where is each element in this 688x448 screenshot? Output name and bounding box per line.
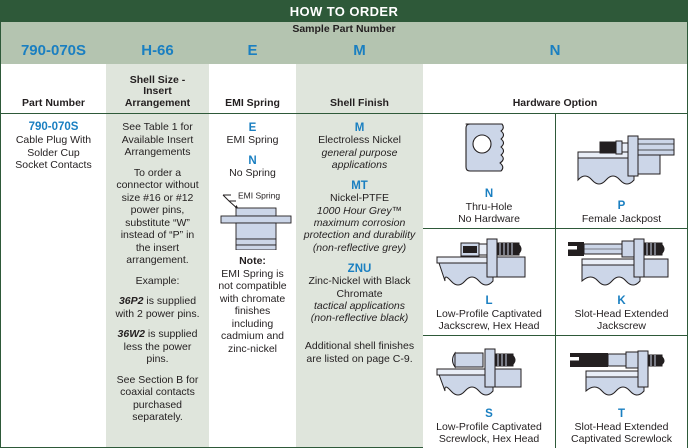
emi-option-n-label: No Spring xyxy=(213,167,292,179)
finish-mt-code: MT xyxy=(301,180,418,192)
header-emi-spring: EMI Spring xyxy=(209,64,296,113)
shell-size-paragraph-4: See Section B for coaxial contacts purch… xyxy=(113,374,202,424)
hardware-option-k: K Slot-Head Extended Jackscrew xyxy=(555,228,687,335)
shell-finish-footer: Additional shell finishes are listed on … xyxy=(301,340,418,365)
sample-value-shell-size: H-66 xyxy=(106,42,209,59)
cell-part-number: 790-070S Cable Plug With Solder Cup Sock… xyxy=(1,114,106,447)
hardware-l-label-line2: Jackscrew, Hex Head xyxy=(439,320,540,332)
hardware-option-l: L Low-Profile Captivated Jackscrew, Hex … xyxy=(423,228,555,335)
emi-note-title: Note: xyxy=(213,255,292,268)
hardware-l-code: L xyxy=(485,295,492,308)
cell-shell-finish: M Electroless Nickel general purpose app… xyxy=(296,114,423,447)
finish-m-code: M xyxy=(301,122,418,134)
hardware-n-code: N xyxy=(485,188,493,201)
hardware-n-label-line2: No Hardware xyxy=(458,213,520,225)
emi-note-body: EMI Spring is not compatible with chroma… xyxy=(213,268,292,356)
header-hardware-option: Hardware Option xyxy=(423,64,687,113)
hardware-l-label-line1: Low-Profile Captivated xyxy=(436,308,542,320)
low-profile-screwlock-drawing xyxy=(423,336,555,408)
hardware-option-s: S Low-Profile Captivated Screwlock, Hex … xyxy=(423,335,555,448)
hardware-p-code: P xyxy=(618,200,626,213)
header-shell-size-line3: Arrangement xyxy=(125,98,190,110)
finish-option-znu: ZNU Zinc-Nickel with Black Chromate tact… xyxy=(301,263,418,324)
part-number-code: 790-070S xyxy=(7,121,100,133)
shell-size-example-2: 36W2 is supplied less the power pins. xyxy=(113,328,202,366)
hardware-t-code: T xyxy=(618,408,625,421)
finish-znu-extra: (non-reflective black) xyxy=(301,312,418,324)
shell-size-paragraph-1: See Table 1 for Available Insert Arrange… xyxy=(113,121,202,159)
hardware-option-grid: N Thru-Hole No Hardware xyxy=(423,114,687,447)
finish-m-name: Electroless Nickel xyxy=(301,134,418,146)
finish-znu-code: ZNU xyxy=(301,263,418,275)
sample-value-emi-spring: E xyxy=(209,42,296,59)
hardware-option-p: P Female Jackpost xyxy=(555,114,687,228)
header-shell-finish: Shell Finish xyxy=(296,64,423,113)
header-shell-size-line2: Insert xyxy=(125,86,190,98)
hardware-s-label-line1: Low-Profile Captivated xyxy=(436,421,542,433)
emi-drawing-callout-text: EMI Spring xyxy=(238,191,280,201)
sample-value-hardware-option: N xyxy=(423,42,687,59)
finish-znu-desc: tactical applications xyxy=(301,300,418,312)
emi-spring-drawing: EMI Spring xyxy=(213,188,299,250)
part-number-desc-line3: Socket Contacts xyxy=(7,159,100,172)
column-header-row: Part Number Shell Size - Insert Arrangem… xyxy=(0,64,688,114)
slot-head-jackscrew-drawing xyxy=(556,229,687,295)
header-part-number: Part Number xyxy=(1,64,106,113)
hardware-t-label-line1: Slot-Head Extended xyxy=(575,421,669,433)
hardware-s-code: S xyxy=(485,408,493,421)
shell-size-example-1: 36P2 is supplied with 2 power pins. xyxy=(113,295,202,320)
finish-mt-desc: 1000 Hour Grey™ maximum corrosion protec… xyxy=(301,205,418,242)
sample-part-number-caption: Sample Part Number xyxy=(1,23,687,37)
table-body-row: 790-070S Cable Plug With Solder Cup Sock… xyxy=(0,114,688,448)
hardware-k-label-line1: Slot-Head Extended xyxy=(575,308,669,320)
page-title: HOW TO ORDER xyxy=(0,0,688,22)
hardware-p-label-line1: Female Jackpost xyxy=(582,213,661,225)
hardware-t-label-line2: Captivated Screwlock xyxy=(571,433,672,445)
thru-hole-drawing xyxy=(423,114,555,188)
hardware-k-label-line2: Jackscrew xyxy=(597,320,646,332)
sample-value-shell-finish: M xyxy=(296,42,423,59)
finish-option-mt: MT Nickel-PTFE 1000 Hour Grey™ maximum c… xyxy=(301,180,418,254)
how-to-order-table: HOW TO ORDER Sample Part Number 790-070S… xyxy=(0,0,688,448)
cell-shell-size: See Table 1 for Available Insert Arrange… xyxy=(106,114,209,447)
part-number-desc-line2: Solder Cup xyxy=(7,147,100,160)
finish-m-desc: general purpose applications xyxy=(301,147,418,172)
part-number-desc-line1: Cable Plug With xyxy=(7,134,100,147)
cell-emi-spring: E EMI Spring N No Spring EMI Spring xyxy=(209,114,296,447)
emi-option-e: E EMI Spring xyxy=(213,122,292,146)
cell-hardware-option: N Thru-Hole No Hardware xyxy=(423,114,687,447)
low-profile-jackscrew-drawing xyxy=(423,229,555,295)
sample-part-number-values: 790-070S H-66 E M N xyxy=(1,38,687,63)
header-shell-size: Shell Size - Insert Arrangement xyxy=(106,64,209,113)
female-jackpost-drawing xyxy=(556,114,687,200)
emi-option-n-code: N xyxy=(213,155,292,167)
emi-option-e-code: E xyxy=(213,122,292,134)
shell-size-paragraph-2: To order a connector without size #16 or… xyxy=(113,167,202,267)
hardware-option-t: T Slot-Head Extended Captivated Screwloc… xyxy=(555,335,687,448)
slot-head-screwlock-drawing xyxy=(556,336,687,408)
sample-part-number-band: Sample Part Number 790-070S H-66 E M N xyxy=(0,22,688,64)
shell-size-example-heading: Example: xyxy=(113,275,202,288)
finish-znu-name: Zinc-Nickel with Black Chromate xyxy=(301,275,418,300)
finish-mt-extra: (non-reflective grey) xyxy=(301,242,418,254)
emi-option-n: N No Spring xyxy=(213,155,292,179)
emi-option-e-label: EMI Spring xyxy=(213,134,292,146)
example-2-code: 36W2 xyxy=(118,328,145,340)
hardware-option-n: N Thru-Hole No Hardware xyxy=(423,114,555,228)
hardware-s-label-line2: Screwlock, Hex Head xyxy=(439,433,539,445)
finish-option-m: M Electroless Nickel general purpose app… xyxy=(301,122,418,171)
hardware-n-label-line1: Thru-Hole xyxy=(466,201,513,213)
hardware-k-code: K xyxy=(617,295,625,308)
example-1-code: 36P2 xyxy=(119,295,144,307)
sample-value-part-number: 790-070S xyxy=(1,42,106,59)
finish-mt-name: Nickel-PTFE xyxy=(301,192,418,204)
